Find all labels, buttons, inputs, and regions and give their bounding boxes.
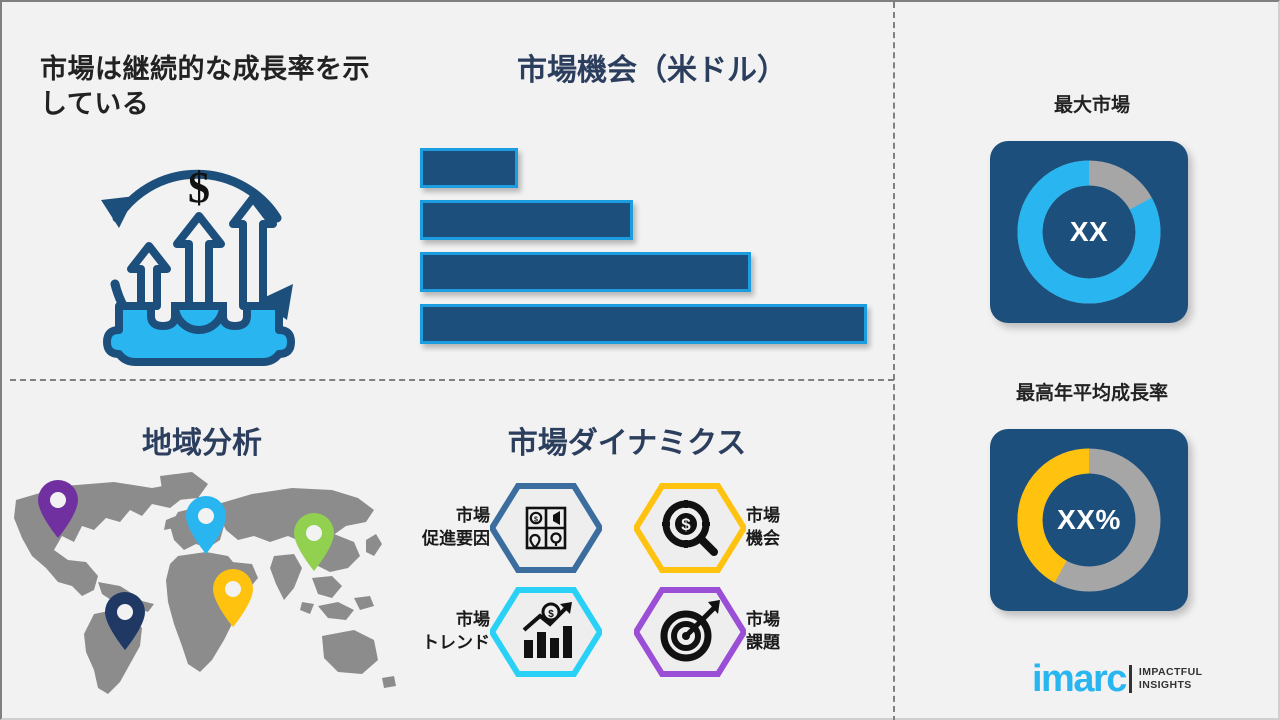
pin-europe [186, 496, 226, 554]
highest-cagr-title: 最高年平均成長率 [932, 382, 1252, 407]
dynamics-item-label: 市場 促進要因 [402, 505, 490, 549]
bar-3 [420, 252, 751, 292]
horizontal-divider [10, 379, 894, 381]
dynamics-item-label: 市場 機会 [746, 505, 834, 549]
bar-row [420, 200, 880, 240]
puzzle-pieces-icon: $ [490, 482, 602, 574]
dynamics-item-challenges[interactable]: 市場 課題 [634, 584, 864, 679]
dynamics-item-label: 市場 課題 [746, 609, 834, 653]
svg-text:$: $ [534, 516, 538, 523]
dynamics-item-trends[interactable]: 市場 トレンド $ [402, 584, 632, 679]
bar-2 [420, 200, 633, 240]
dynamics-panel-title: 市場ダイナミクス [402, 425, 852, 463]
growth-cycle-gear-icon: $ [77, 134, 317, 366]
dollar-magnifier-icon: $ [634, 482, 746, 574]
growth-panel-title: 市場は継続的な成長率を示している [40, 52, 390, 122]
dynamics-item-opportunities[interactable]: $ 市場 機会 [634, 480, 864, 575]
regional-panel-title: 地域分析 [12, 425, 392, 463]
logo-divider [1129, 665, 1132, 693]
bar-1 [420, 148, 518, 188]
vertical-divider [893, 2, 895, 720]
pin-south-america [105, 592, 145, 650]
dynamics-grid: 市場 促進要因 $ [402, 480, 862, 680]
bar-row [420, 148, 880, 188]
svg-text:$: $ [548, 609, 554, 620]
pin-east-asia [294, 513, 334, 571]
imarc-logo: imarc IMPACTFUL INSIGHTS [1032, 660, 1202, 698]
largest-market-title: 最大市場 [932, 94, 1252, 119]
dynamics-item-label: 市場 トレンド [402, 609, 490, 653]
largest-market-donut-chart [1007, 150, 1171, 314]
bar-4 [420, 304, 867, 344]
largest-market-donut-card: XX [990, 141, 1188, 323]
logo-wordmark: imarc [1032, 660, 1126, 698]
highest-cagr-donut-chart [1007, 438, 1171, 602]
highest-cagr-donut-card: XX% [990, 429, 1188, 611]
pin-north-america [38, 480, 78, 538]
world-map [2, 464, 402, 702]
opportunity-bar-chart [420, 148, 880, 353]
target-dart-icon [634, 586, 746, 678]
dollar-symbol: $ [188, 163, 210, 212]
opportunity-panel-title: 市場機会（米ドル） [422, 52, 882, 90]
infographic-canvas: 市場は継続的な成長率を示している $ 市場機会（ [0, 0, 1280, 720]
bar-chart-growth-icon: $ [490, 586, 602, 678]
dynamics-item-drivers[interactable]: 市場 促進要因 $ [402, 480, 632, 575]
bar-row [420, 252, 880, 292]
bar-row [420, 304, 880, 344]
svg-text:$: $ [681, 515, 691, 534]
pin-east-africa [213, 569, 253, 627]
logo-tagline: IMPACTFUL INSIGHTS [1139, 666, 1202, 692]
